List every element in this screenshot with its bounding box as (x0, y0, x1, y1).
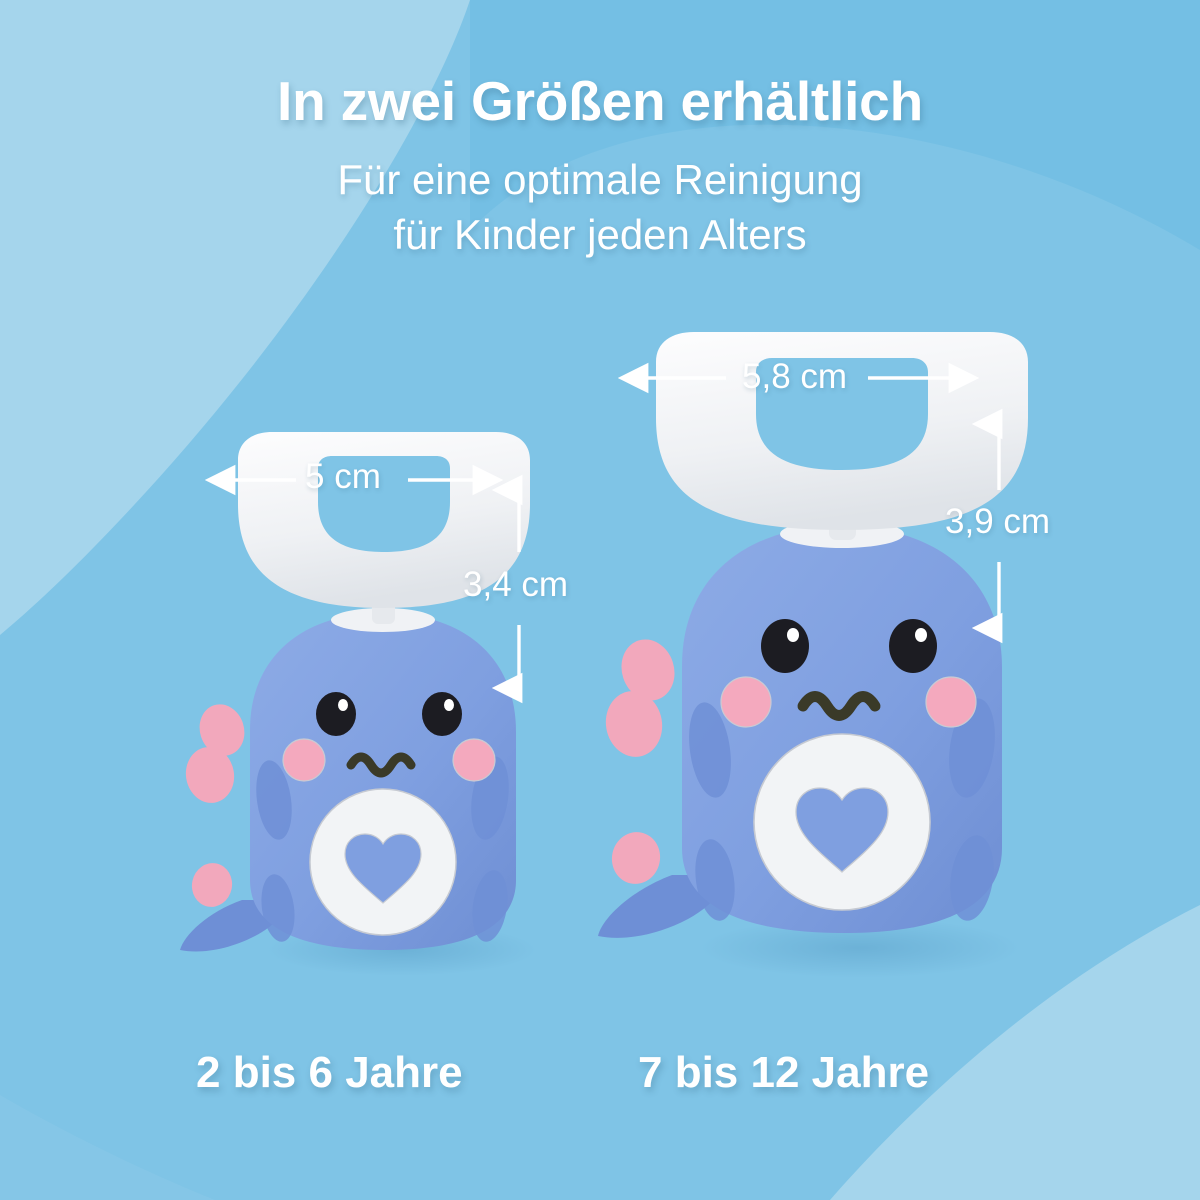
product-small (150, 430, 620, 990)
dimension-label-large-width: 5,8 cm (742, 357, 847, 397)
page-subtitle-line1: Für eine optimale Reinigung (0, 153, 1200, 208)
blush-left (721, 677, 771, 727)
eye-right (889, 619, 937, 673)
heart-emblem (310, 789, 456, 935)
age-caption-small: 2 bis 6 Jahre (196, 1048, 463, 1098)
heart-emblem (754, 734, 930, 910)
blush-left (283, 739, 325, 781)
product-large-illustration (560, 330, 1120, 990)
page-subtitle: Für eine optimale Reinigung für Kinder j… (0, 153, 1200, 262)
infographic-canvas: In zwei Größen erhältlich Für eine optim… (0, 0, 1200, 1200)
eye-left (316, 692, 356, 736)
eye-left (761, 619, 809, 673)
dimension-label-small-width: 5 cm (305, 457, 381, 497)
eye-left-highlight (338, 699, 348, 711)
product-large (560, 330, 1120, 990)
dorsal-spikes (182, 698, 251, 910)
blush-right (453, 739, 495, 781)
blush-right (926, 677, 976, 727)
eye-left-highlight (787, 628, 799, 642)
header-block: In zwei Größen erhältlich Für eine optim… (0, 72, 1200, 263)
dimension-label-large-height: 3,9 cm (945, 502, 1050, 542)
eye-right-highlight (915, 628, 927, 642)
eye-right (422, 692, 462, 736)
eye-right-highlight (444, 699, 454, 711)
product-small-illustration (150, 430, 620, 990)
age-caption-large: 7 bis 12 Jahre (638, 1048, 929, 1098)
dimension-label-small-height: 3,4 cm (463, 565, 568, 605)
page-subtitle-line2: für Kinder jeden Alters (0, 208, 1200, 263)
dorsal-spikes (601, 632, 683, 888)
page-title: In zwei Größen erhältlich (0, 72, 1200, 131)
